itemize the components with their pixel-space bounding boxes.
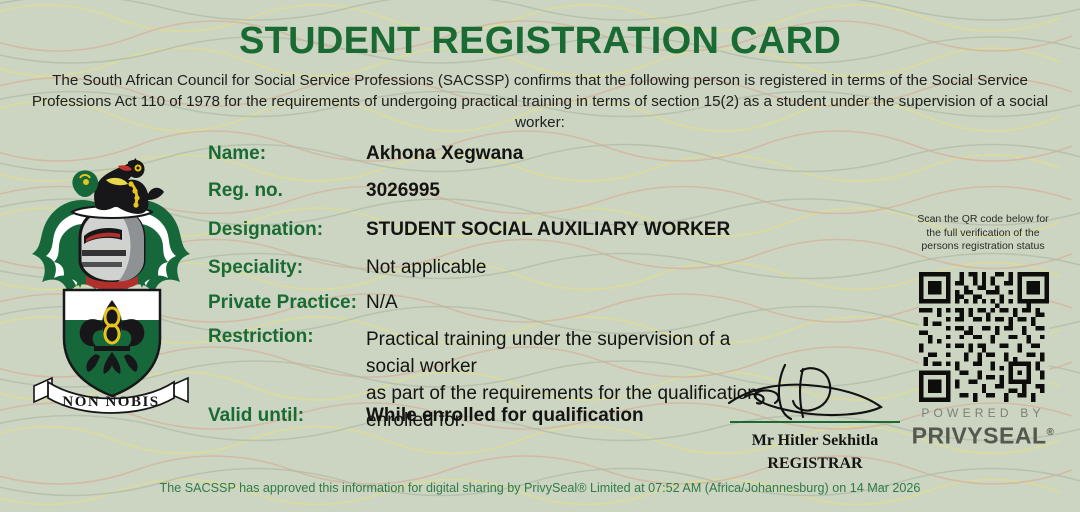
- brand-name-text: PRIVYSEAL: [912, 423, 1047, 449]
- label-reg-no: Reg. no.: [208, 180, 366, 202]
- qr-caption: Scan the QR code below for the full veri…: [900, 213, 1066, 254]
- field-row-reg-no: Reg. no. 3026995: [208, 180, 440, 202]
- intro-paragraph: The South African Council for Social Ser…: [26, 70, 1054, 133]
- value-name: Akhona Xegwana: [366, 143, 523, 165]
- value-reg-no: 3026995: [366, 180, 440, 202]
- student-registration-card: STUDENT REGISTRATION CARD The South Afri…: [0, 0, 1080, 512]
- page-title: STUDENT REGISTRATION CARD: [0, 20, 1080, 63]
- signature-block: Mr Hitler Sekhitla REGISTRAR: [700, 363, 930, 475]
- field-row-designation: Designation: STUDENT SOCIAL AUXILIARY WO…: [208, 219, 730, 241]
- label-name: Name:: [208, 143, 366, 165]
- field-row-speciality: Speciality: Not applicable: [208, 257, 486, 279]
- qr-caption-line1: Scan the QR code below for: [900, 213, 1066, 227]
- label-restriction: Restriction:: [208, 326, 366, 348]
- label-private-practice: Private Practice:: [208, 292, 366, 314]
- value-private-practice: N/A: [366, 292, 398, 314]
- qr-code[interactable]: [919, 272, 1049, 402]
- privyseal-brand: POWERED BY PRIVYSEAL®: [900, 406, 1066, 449]
- brand-name: PRIVYSEAL®: [900, 420, 1066, 449]
- registrar-name: Mr Hitler Sekhitla: [700, 429, 930, 452]
- field-row-name: Name: Akhona Xegwana: [208, 143, 523, 165]
- value-valid-until: While enrolled for qualification: [366, 405, 644, 427]
- registered-mark: ®: [1047, 427, 1055, 438]
- label-designation: Designation:: [208, 219, 366, 241]
- label-speciality: Speciality:: [208, 257, 366, 279]
- motto-text: NON NOBIS: [62, 394, 159, 410]
- qr-caption-line3: persons registration status: [900, 240, 1066, 254]
- qr-caption-line2: the full verification of the: [900, 227, 1066, 241]
- signature-line: [730, 421, 900, 423]
- footer-approval-text: The SACSSP has approved this information…: [0, 481, 1080, 495]
- shield: [64, 290, 160, 396]
- coat-of-arms-emblem: NON NOBIS: [18, 142, 204, 418]
- registrar-title: REGISTRAR: [700, 452, 930, 475]
- field-row-private-practice: Private Practice: N/A: [208, 292, 398, 314]
- field-row-valid-until: Valid until: While enrolled for qualific…: [208, 405, 644, 427]
- handwritten-signature: [715, 363, 915, 421]
- value-speciality: Not applicable: [366, 257, 486, 279]
- powered-by-label: POWERED BY: [900, 406, 1066, 420]
- value-designation: STUDENT SOCIAL AUXILIARY WORKER: [366, 219, 730, 241]
- label-valid-until: Valid until:: [208, 405, 366, 427]
- value-restriction-line1: Practical training under the supervision…: [366, 329, 730, 377]
